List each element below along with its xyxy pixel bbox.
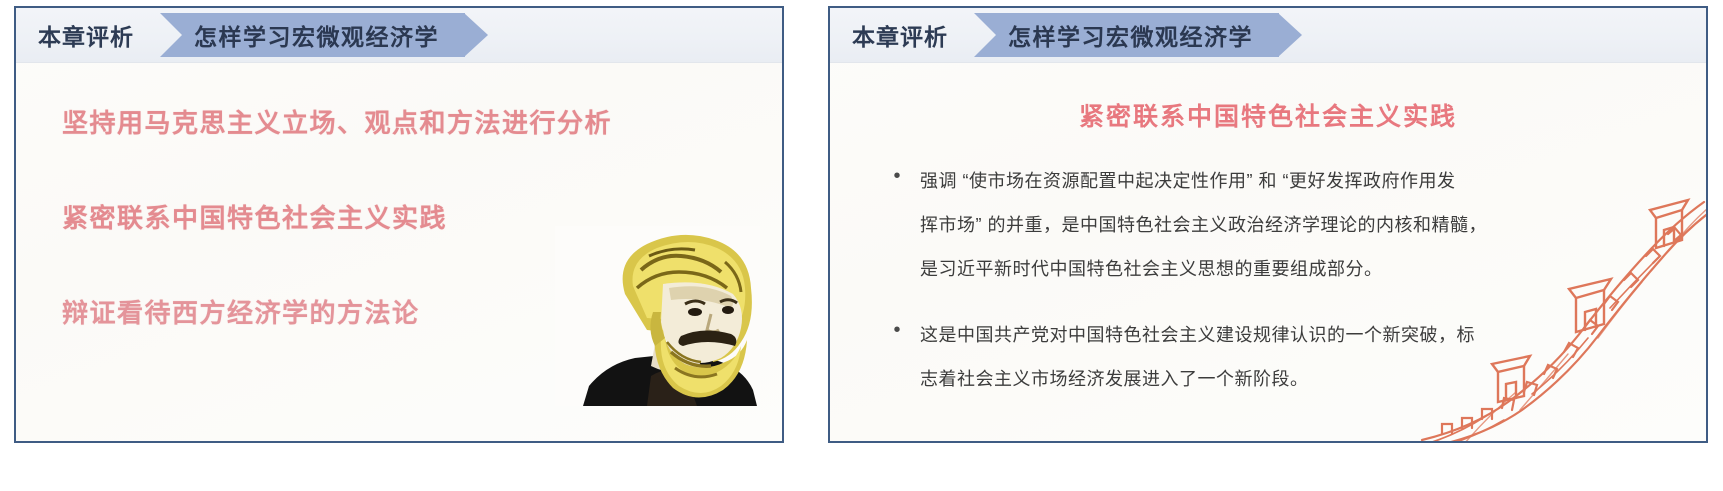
slide-pair-container: 本章评析 怎样学习宏微观经济学 坚持用马克思主义立场、观点和方法进行分析 紧密联…: [0, 0, 1723, 491]
bullet-1-line-3: 是习近平新时代中国特色社会主义思想的重要组成部分。: [920, 247, 1666, 291]
right-slide: 本章评析 怎样学习宏微观经济学 紧密联系中国特色社会主义实践 • 强调 “使市场…: [828, 6, 1708, 443]
right-slide-title: 紧密联系中国特色社会主义实践: [870, 97, 1666, 133]
marx-portrait-image: [555, 226, 760, 406]
right-slide-body: 紧密联系中国特色社会主义实践 • 强调 “使市场在资源配置中起决定性作用” 和 …: [830, 63, 1706, 442]
list-item: • 这是中国共产党对中国特色社会主义建设规律认识的一个新突破，标 志着社会主义市…: [870, 313, 1666, 401]
right-header-chevron-group: 怎样学习宏微观经济学: [974, 13, 1302, 57]
left-header-chevron-banner: 怎样学习宏微观经济学: [160, 13, 465, 57]
bullet-2-line-2: 志着社会主义市场经济发展进入了一个新阶段。: [920, 357, 1666, 401]
left-header-chevron-group: 怎样学习宏微观经济学: [160, 13, 488, 57]
right-header-chevron-banner: 怎样学习宏微观经济学: [974, 13, 1279, 57]
right-header-label: 本章评析: [852, 18, 948, 52]
bullet-1-line-2: 挥市场” 的并重，是中国特色社会主义政治经济学理论的内核和精髓，: [920, 203, 1666, 247]
left-point-1: 坚持用马克思主义立场、观点和方法进行分析: [62, 103, 782, 140]
chevron-right-icon: [464, 13, 488, 57]
right-header-title: 怎样学习宏微观经济学: [1008, 18, 1253, 52]
bullet-2-line-1: 这是中国共产党对中国特色社会主义建设规律认识的一个新突破，标: [920, 313, 1666, 357]
left-header-label: 本章评析: [38, 18, 134, 52]
right-slide-header: 本章评析 怎样学习宏微观经济学: [830, 8, 1706, 63]
bullet-1-line-1: 强调 “使市场在资源配置中起决定性作用” 和 “更好发挥政府作用发: [920, 159, 1666, 203]
left-slide-header: 本章评析 怎样学习宏微观经济学: [16, 8, 782, 63]
bullet-text-block: 强调 “使市场在资源配置中起决定性作用” 和 “更好发挥政府作用发 挥市场” 的…: [906, 159, 1666, 291]
bullet-dot-icon: •: [888, 313, 906, 347]
left-slide-body: 坚持用马克思主义立场、观点和方法进行分析 紧密联系中国特色社会主义实践 辩证看待…: [16, 63, 782, 442]
left-slide: 本章评析 怎样学习宏微观经济学 坚持用马克思主义立场、观点和方法进行分析 紧密联…: [14, 6, 784, 443]
left-header-title: 怎样学习宏微观经济学: [194, 18, 439, 52]
bullet-text-block: 这是中国共产党对中国特色社会主义建设规律认识的一个新突破，标 志着社会主义市场经…: [906, 313, 1666, 401]
chevron-right-icon: [1278, 13, 1302, 57]
bullet-dot-icon: •: [888, 159, 906, 193]
list-item: • 强调 “使市场在资源配置中起决定性作用” 和 “更好发挥政府作用发 挥市场”…: [870, 159, 1666, 291]
bullet-list: • 强调 “使市场在资源配置中起决定性作用” 和 “更好发挥政府作用发 挥市场”…: [870, 159, 1666, 401]
